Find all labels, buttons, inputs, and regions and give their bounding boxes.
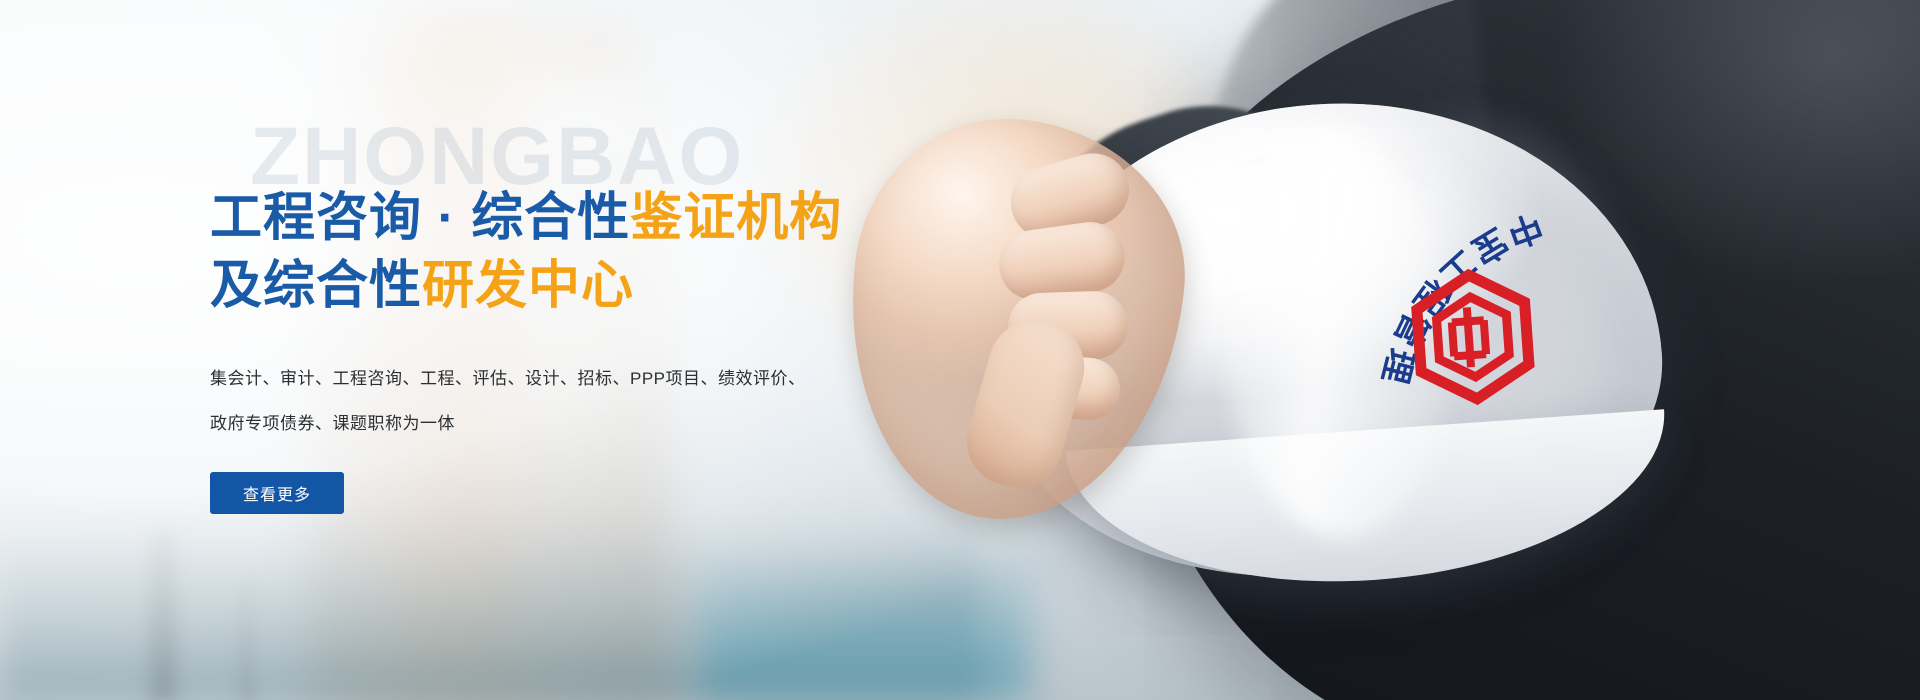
hero-banner: 中宝工程管理 ZHONGBAO 工程咨询 · 综合性鉴证机构 (0, 0, 1920, 700)
headline-line1-primary: 工程咨询 · 综合性 (210, 189, 630, 247)
headline-line1-accent: 鉴证机构 (630, 189, 842, 247)
hero-headline-line-2: 及综合性研发中心 (210, 254, 930, 320)
description-line-1: 集会计、审计、工程咨询、工程、评估、设计、招标、PPP项目、绩效评价、 (210, 357, 930, 401)
headline-line2-primary: 及综合性 (210, 257, 422, 315)
hero-headline-line-1: 工程咨询 · 综合性鉴证机构 (210, 186, 930, 252)
description-line-2: 政府专项债券、课题职称为一体 (210, 402, 930, 446)
view-more-button[interactable]: 查看更多 (210, 472, 344, 514)
hero-description: 集会计、审计、工程咨询、工程、评估、设计、招标、PPP项目、绩效评价、 政府专项… (210, 357, 930, 445)
hero-content: ZHONGBAO 工程咨询 · 综合性鉴证机构 及综合性研发中心 集会计、审计、… (210, 0, 930, 700)
headline-line2-accent: 研发中心 (422, 257, 634, 315)
helmet-logo: 中宝工程管理 (1217, 137, 1643, 544)
